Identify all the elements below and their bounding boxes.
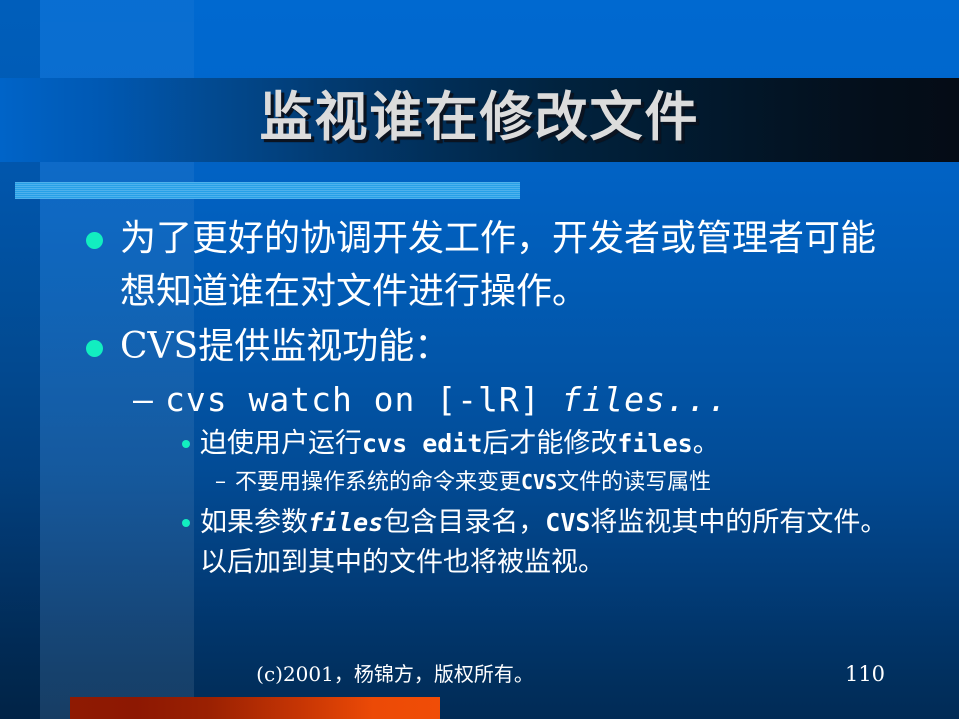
bullet-level1-text: 为了更好的协调开发工作，开发者或管理者可能想知道谁在对文件进行操作。 — [120, 212, 904, 318]
bullet-level1-text: CVS提供监视功能： — [120, 320, 904, 373]
level3-segment: 。 — [693, 428, 720, 459]
command-argument-italic: files... — [562, 380, 729, 419]
copyright-text: (c)2001，杨锦方，版权所有。 — [0, 660, 790, 688]
bullet-circle-icon — [86, 340, 103, 357]
bullet-level3-item: 迫使用户运行cvs edit后才能修改files。 — [0, 424, 959, 464]
command-text: cvs watch on [-lR] — [165, 380, 562, 419]
bullet-level1-item: 为了更好的协调开发工作，开发者或管理者可能想知道谁在对文件进行操作。 — [0, 212, 959, 318]
page-number: 110 — [830, 660, 900, 688]
presentation-slide: 监视谁在修改文件 为了更好的协调开发工作，开发者或管理者可能想知道谁在对文件进行… — [0, 0, 959, 719]
bullet-level2-item: – cvs watch on [-lR] files... — [0, 376, 959, 424]
level3-segment-mono-italic: files — [308, 508, 383, 537]
level4-segment: 文件的读写属性 — [557, 470, 711, 495]
level3-segment: 包含目录名， — [383, 507, 545, 538]
slide-title: 监视谁在修改文件 — [0, 80, 959, 154]
bullet-level3-item: 如果参数files包含目录名，CVS将监视其中的所有文件。以后加到其中的文件也将… — [0, 503, 959, 583]
level4-segment: 不要用操作系统的命令来变更 — [235, 470, 521, 495]
bullet-level4-item: – 不要用操作系统的命令来变更CVS文件的读写属性 — [0, 466, 959, 499]
bottom-accent-bar — [70, 697, 440, 719]
level4-segment-mono: CVS — [521, 470, 557, 494]
title-underline-rule — [15, 182, 520, 199]
dash-marker-icon: – — [133, 376, 154, 424]
level3-segment-mono: CVS — [545, 508, 590, 537]
level3-segment: 迫使用户运行 — [200, 428, 362, 459]
bullet-dot-icon — [182, 519, 190, 527]
slide-footer: (c)2001，杨锦方，版权所有。 110 — [0, 660, 959, 690]
dash-marker-icon: – — [215, 466, 226, 498]
bullet-dot-icon — [182, 440, 190, 448]
level3-segment-mono: cvs edit — [362, 429, 482, 458]
bullet-circle-icon — [86, 232, 103, 249]
level3-segment: 如果参数 — [200, 507, 308, 538]
level3-segment-mono: files — [617, 429, 692, 458]
slide-body: 为了更好的协调开发工作，开发者或管理者可能想知道谁在对文件进行操作。 CVS提供… — [0, 212, 959, 583]
level3-segment: 后才能修改 — [482, 428, 617, 459]
bullet-level1-item: CVS提供监视功能： — [0, 320, 959, 373]
